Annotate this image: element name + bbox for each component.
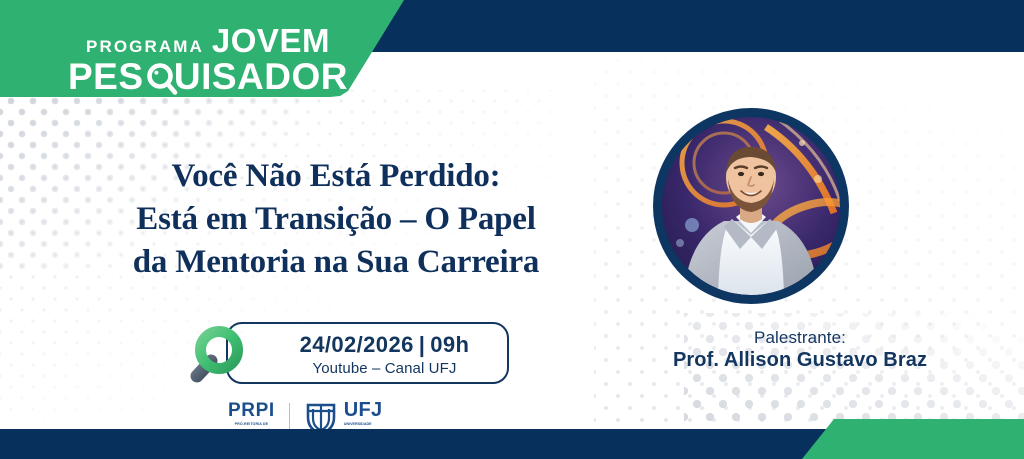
- speaker-photo: [653, 108, 849, 304]
- event-banner: PROGRAMA JOVEM PES UISADOR Você Não Está…: [0, 0, 1024, 459]
- title-line-3: da Mentoria na Sua Carreira: [46, 241, 626, 284]
- speaker-label: Palestrante:: [610, 328, 990, 348]
- event-datetime: 24/02/2026|09h: [300, 333, 470, 356]
- speaker-name: Prof. Allison Gustavo Braz: [610, 349, 990, 372]
- event-datetime-badge-content: 24/02/2026|09h Youtube – Canal UFJ: [228, 324, 511, 386]
- event-channel: Youtube – Canal UFJ: [313, 360, 457, 377]
- event-datetime-badge: 24/02/2026|09h Youtube – Canal UFJ: [226, 322, 509, 384]
- event-datetime-separator: |: [414, 332, 431, 357]
- title-line-1: Você Não Está Perdido:: [46, 155, 626, 198]
- prpi-acronym: PRPI: [228, 401, 275, 420]
- event-time: 09h: [430, 332, 469, 357]
- event-date: 24/02/2026: [300, 332, 414, 357]
- program-logo-jovem: JOVEM: [212, 22, 330, 60]
- program-logo-line-2: PES UISADOR: [68, 56, 348, 98]
- title-line-2: Está em Transição – O Papel: [46, 198, 626, 241]
- magnifier-icon: [145, 60, 173, 94]
- program-logo-line-1: PROGRAMA JOVEM: [68, 22, 348, 60]
- program-logo-uisador: UISADOR: [174, 56, 348, 98]
- speaker-caption: Palestrante: Prof. Allison Gustavo Braz: [610, 328, 990, 372]
- page-title: Você Não Está Perdido: Está em Transição…: [46, 155, 626, 284]
- speaker-photo-image: [662, 117, 840, 295]
- ufj-subtitle-line-1: UNIVERSIDADE: [344, 422, 383, 428]
- program-logo-pes: PES: [68, 56, 144, 98]
- ufj-acronym: UFJ: [344, 399, 383, 421]
- program-logo: PROGRAMA JOVEM PES UISADOR: [68, 22, 348, 98]
- magnifier-icon: [182, 319, 254, 391]
- prpi-subtitle-line-1: PRÓ-REITORIA DE: [228, 422, 275, 427]
- program-logo-programa: PROGRAMA: [86, 37, 204, 57]
